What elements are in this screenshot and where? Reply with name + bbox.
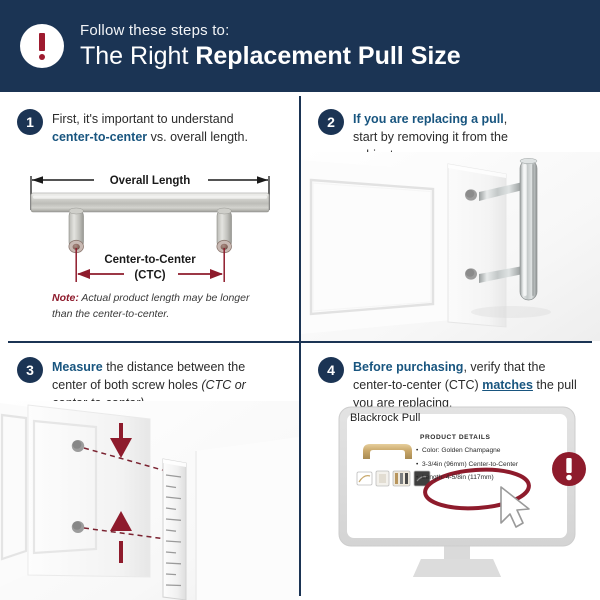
step-2-panel: 2 If you are replacing a pull, start by … xyxy=(301,92,600,341)
step-1-note: Note: Actual product length may be longe… xyxy=(52,290,262,323)
header-text-block: Follow these steps to: The Right Replace… xyxy=(80,23,461,69)
overall-arrow-right xyxy=(257,176,268,184)
ctc-arrow-right xyxy=(210,269,223,279)
product-thumbnail-strip xyxy=(357,471,430,486)
exclamation-icon xyxy=(20,24,64,68)
step-2-badge: 2 xyxy=(318,109,344,135)
page-title-light: The Right xyxy=(80,42,195,70)
step-1-badge: 1 xyxy=(17,109,43,135)
exclamation-dot xyxy=(39,54,45,60)
measuring-screw-holes-illustration xyxy=(0,401,299,600)
cabinet-door-removal-illustration xyxy=(301,152,600,341)
exclamation-dot xyxy=(566,475,572,481)
header-banner: Follow these steps to: The Right Replace… xyxy=(0,0,600,92)
step-1-lead: First, it's important to understand xyxy=(52,112,234,126)
step-1-panel: 1 First, it's important to understand ce… xyxy=(0,92,299,341)
exclamation-bar xyxy=(566,458,571,473)
ctc-label-line2: (CTC) xyxy=(134,270,165,282)
monitor-product-page: Blackrock Pull PRODUCT DETAILS Color: Go… xyxy=(329,401,600,600)
exclamation-bar xyxy=(39,33,45,51)
step-4-badge: 4 xyxy=(318,357,344,383)
step-4-panel: 4 Before purchasing, verify that the cen… xyxy=(301,343,600,600)
step-3-badge: 3 xyxy=(17,357,43,383)
step-3-highlight: Measure xyxy=(52,360,103,374)
overall-arrow-left xyxy=(32,176,43,184)
header-kicker: Follow these steps to: xyxy=(80,23,461,39)
note-label: Note: xyxy=(52,292,79,304)
page-title-bold: Replacement Pull Size xyxy=(195,42,460,70)
step-3-panel: 3 Measure the distance between the cente… xyxy=(0,343,299,600)
steps-grid: 1 First, it's important to understand ce… xyxy=(0,92,600,600)
step-1-tail: vs. overall length. xyxy=(147,130,248,144)
step-1-text: First, it's important to understand cent… xyxy=(52,109,277,146)
page-title: The Right Replacement Pull Size xyxy=(80,43,461,69)
infographic-page: Follow these steps to: The Right Replace… xyxy=(0,0,600,600)
step-1-header: 1 First, it's important to understand ce… xyxy=(17,109,277,146)
thumb-1 xyxy=(357,472,372,485)
monitor-illustration xyxy=(329,401,600,600)
step-4-link[interactable]: matches xyxy=(482,378,533,392)
monitor-base xyxy=(413,559,501,577)
step-1-highlight: center-to-center xyxy=(52,130,147,144)
note-text: Actual product length may be longer than… xyxy=(52,292,249,320)
step-2-highlight: If you are replacing a pull xyxy=(353,112,504,126)
ctc-label-line1: Center-to-Center xyxy=(104,254,196,266)
overall-length-label: Overall Length xyxy=(110,175,191,187)
ctc-arrow-left xyxy=(77,269,90,279)
step-4-highlight: Before purchasing xyxy=(353,360,463,374)
bar-pull xyxy=(520,160,537,300)
